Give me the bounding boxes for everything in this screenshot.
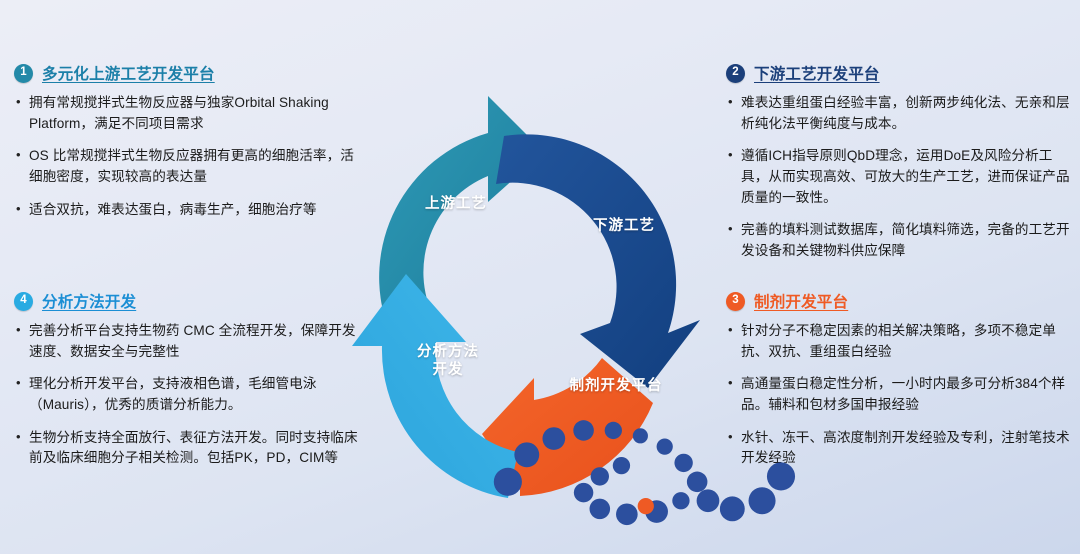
- slide-canvas: 1 多元化上游工艺开发平台 拥有常规搅拌式生物反应器与独家Orbital Sha…: [0, 0, 1080, 554]
- center-logo: Canton Biologics: [470, 256, 612, 328]
- panel-analytical-method-development: 4 分析方法开发 完善分析平台支持生物药 CMC 全流程开发，保障开发速度、数据…: [14, 290, 366, 481]
- bullet-list-downstream: 难表达重组蛋白经验丰富，创新两步纯化法、无亲和层析纯化法平衡纯度与成本。 遵循I…: [726, 93, 1078, 262]
- four-stage-cycle-diagram: 上游工艺 下游工艺 制剂开发平台 分析方法 开发: [348, 78, 732, 508]
- panel-title-analytics: 分析方法开发: [42, 290, 136, 312]
- panel-upstream-platform: 1 多元化上游工艺开发平台 拥有常规搅拌式生物反应器与独家Orbital Sha…: [14, 62, 366, 232]
- dna-dots-logo-icon: [470, 256, 854, 554]
- list-item: 生物分析支持全面放行、表征方法开发。同时支持临床前及临床细胞分子相关检测。包括P…: [14, 428, 366, 469]
- list-item: 拥有常规搅拌式生物反应器与独家Orbital Shaking Platform，…: [14, 93, 366, 134]
- badge-number-1: 1: [14, 64, 33, 83]
- list-item: 遵循ICH指导原则QbD理念，运用DoE及风险分析工具，从而实现高效、可放大的生…: [726, 146, 1078, 208]
- panel-downstream-platform: 2 下游工艺开发平台 难表达重组蛋白经验丰富，创新两步纯化法、无亲和层析纯化法平…: [726, 62, 1078, 274]
- list-item: 理化分析开发平台，支持液相色谱，毛细管电泳（Mauris），优秀的质谱分析能力。: [14, 374, 366, 415]
- bullet-list-analytics: 完善分析平台支持生物药 CMC 全流程开发，保障开发速度、数据安全与完整性 理化…: [14, 321, 366, 469]
- list-item: 适合双抗，难表达蛋白，病毒生产，细胞治疗等: [14, 200, 366, 221]
- bullet-list-upstream: 拥有常规搅拌式生物反应器与独家Orbital Shaking Platform，…: [14, 93, 366, 220]
- list-item: OS 比常规搅拌式生物反应器拥有更高的细胞活率，活细胞密度，实现较高的表达量: [14, 146, 366, 187]
- panel-header: 1 多元化上游工艺开发平台: [14, 62, 366, 84]
- list-item: 完善分析平台支持生物药 CMC 全流程开发，保障开发速度、数据安全与完整性: [14, 321, 366, 362]
- panel-title-upstream: 多元化上游工艺开发平台: [42, 62, 215, 84]
- panel-header: 2 下游工艺开发平台: [726, 62, 1078, 84]
- list-item: 难表达重组蛋白经验丰富，创新两步纯化法、无亲和层析纯化法平衡纯度与成本。: [726, 93, 1078, 134]
- panel-header: 4 分析方法开发: [14, 290, 366, 312]
- panel-title-downstream: 下游工艺开发平台: [754, 62, 880, 84]
- badge-number-4: 4: [14, 292, 33, 311]
